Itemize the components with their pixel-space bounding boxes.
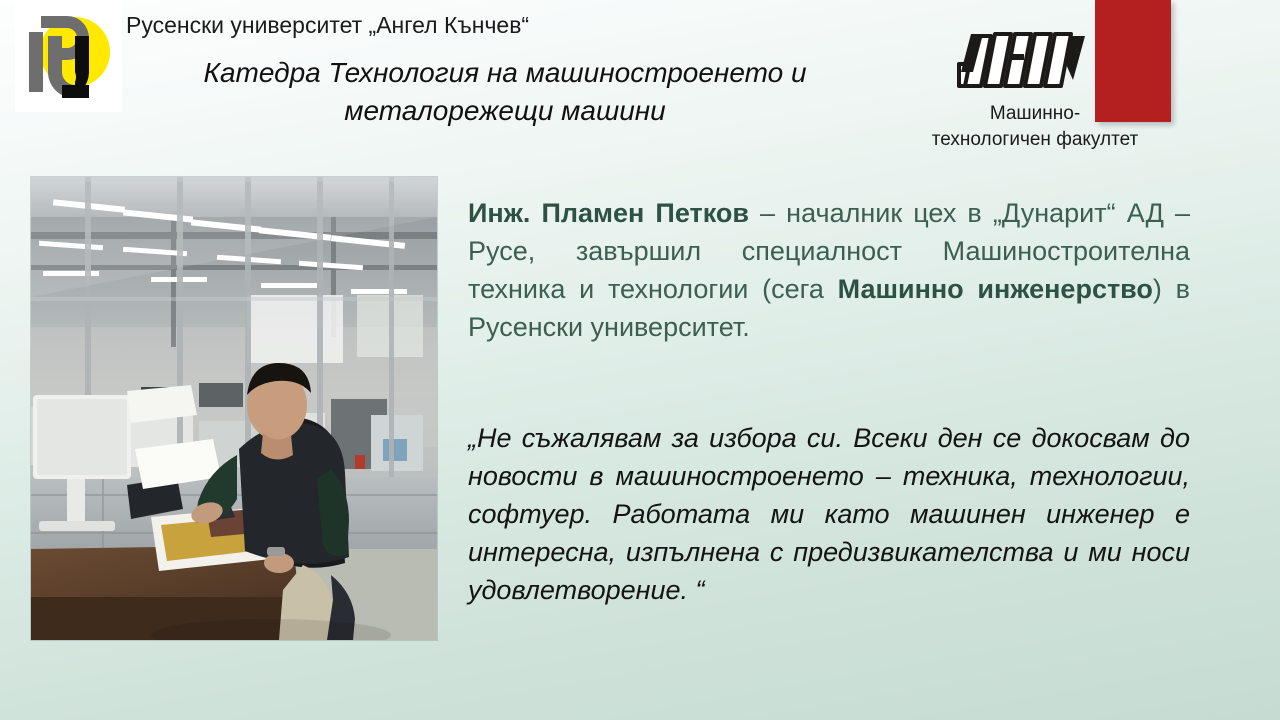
ru-logo <box>15 0 122 112</box>
ru-logo-icon <box>15 0 122 112</box>
office-workshop-photo <box>31 177 437 640</box>
quote-block: „Не съжалявам за избора си. Всеки ден се… <box>468 419 1190 609</box>
bio-paragraph: Инж. Пламен Петков – началник цех в „Дун… <box>468 194 1190 346</box>
faculty-caption-line-1: Машинно- <box>990 103 1080 124</box>
photo-illustration <box>31 177 437 640</box>
speciality-name: Машинно инженерство <box>838 274 1153 304</box>
faculty-caption: Машинно- технологичен факултет <box>890 101 1180 153</box>
slide-canvas: Русенски университет „Ангел Кънчев“ Кате… <box>0 0 1280 720</box>
bio-text: Инж. Пламен Петков – началник цех в „Дун… <box>468 194 1190 346</box>
department-title: Катедра Технология на машиностроенето и … <box>150 54 860 130</box>
person-name: Инж. Пламен Петков <box>468 198 749 228</box>
helix-drill-flute-icon <box>955 26 1095 92</box>
university-title: Русенски университет „Ангел Кънчев“ <box>126 10 529 40</box>
faculty-caption-line-2: технологичен факултет <box>932 129 1138 150</box>
quote-text: „Не съжалявам за избора си. Всеки ден се… <box>468 419 1190 609</box>
